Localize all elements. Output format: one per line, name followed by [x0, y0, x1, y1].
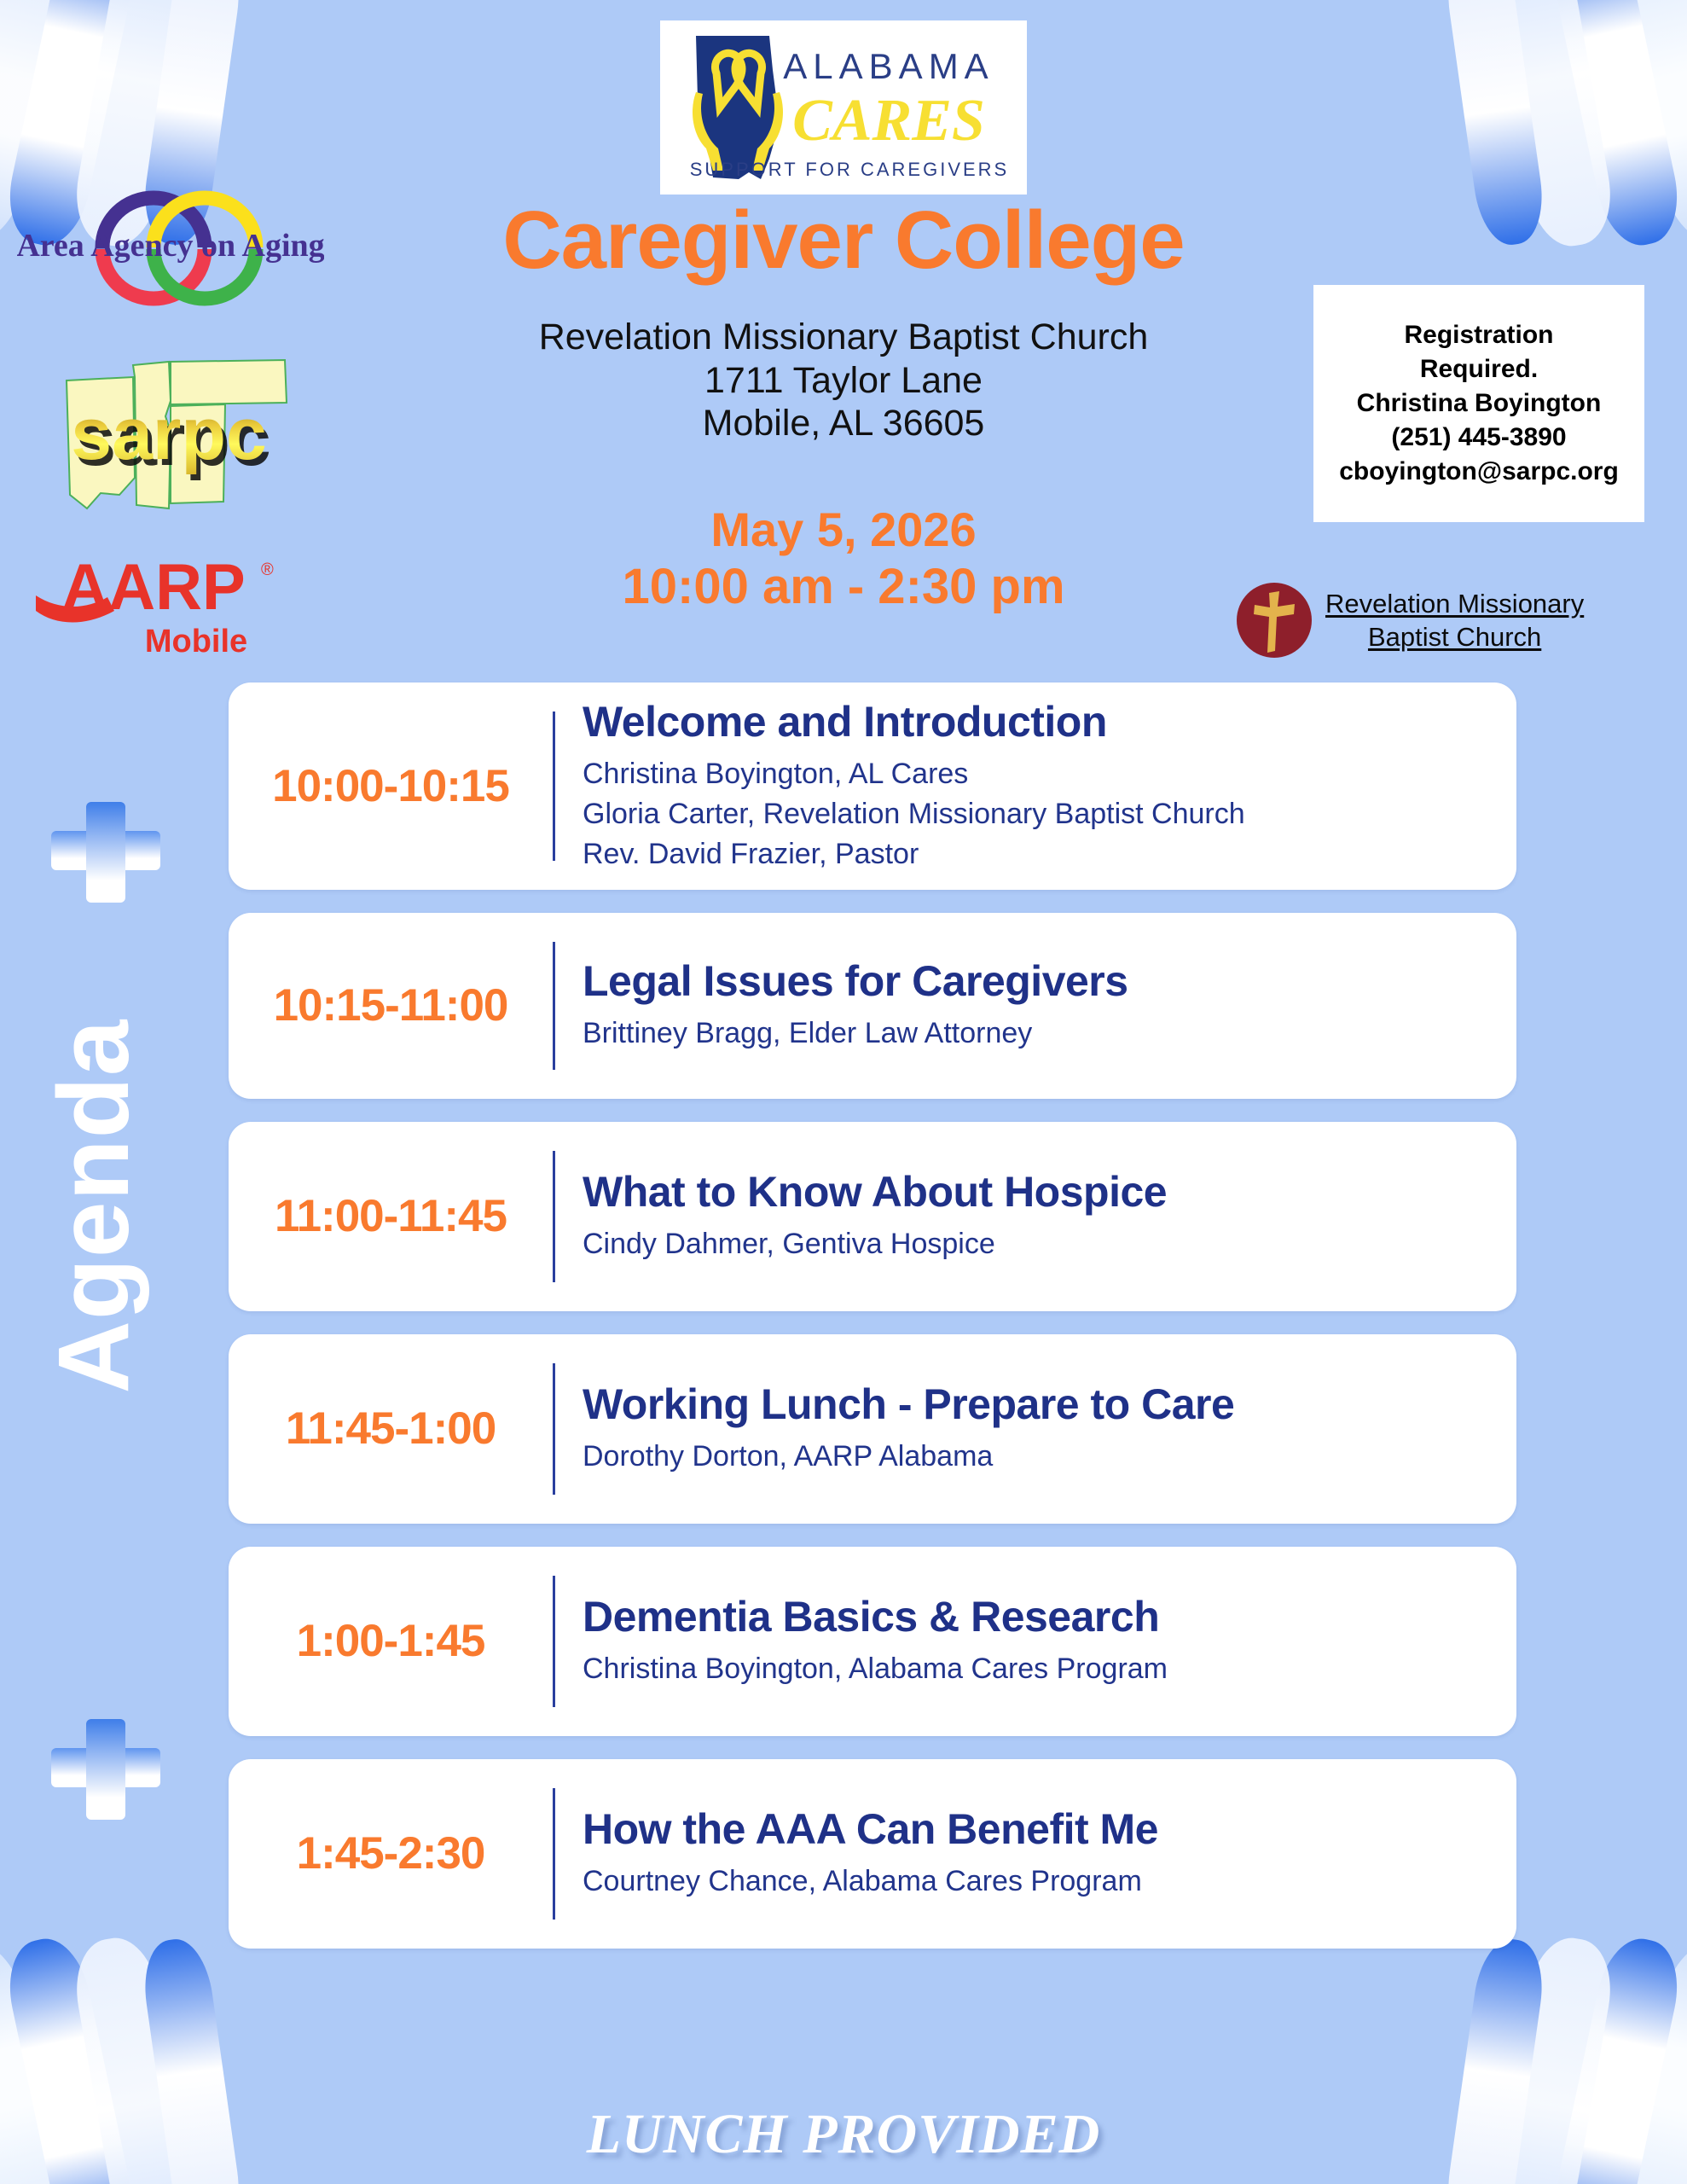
agenda-item-body: Working Lunch - Prepare to Care Dorothy …	[555, 1380, 1494, 1477]
registration-line1: Registration	[1404, 318, 1553, 352]
agenda-item: 10:00-10:15 Welcome and Introduction Chr…	[229, 682, 1516, 890]
church-name-line2: Baptist Church	[1325, 620, 1584, 653]
alabama-cares-logo: ALABAMA CARES SUPPORT FOR CAREGIVERS	[660, 20, 1027, 195]
agenda-item-title: Working Lunch - Prepare to Care	[583, 1380, 1494, 1428]
flyer-page: Area Agency on Aging sarpc	[0, 0, 1687, 2184]
agenda-item-body: What to Know About Hospice Cindy Dahmer,…	[555, 1168, 1494, 1264]
alabama-cares-word-cares: CARES	[792, 88, 985, 154]
cross-icon	[1235, 581, 1313, 659]
alabama-cares-tagline: SUPPORT FOR CAREGIVERS	[690, 159, 1009, 180]
agenda-item-time: 10:15-11:00	[229, 979, 553, 1031]
agenda-item-speaker: Gloria Carter, Revelation Missionary Bap…	[583, 794, 1494, 834]
agenda-item-speaker: Christina Boyington, AL Cares	[583, 754, 1494, 794]
aarp-mobile-text: Mobile	[145, 624, 247, 659]
plus-ornament-icon	[51, 802, 160, 903]
ribbon-decoration-top-right	[1465, 0, 1687, 222]
agenda-item-time: 11:45-1:00	[229, 1403, 553, 1455]
agenda-item: 1:00-1:45 Dementia Basics & Research Chr…	[229, 1547, 1516, 1736]
agenda-item-title: What to Know About Hospice	[583, 1168, 1494, 1216]
registration-phone[interactable]: (251) 445-3890	[1391, 421, 1566, 455]
alabama-cares-word-alabama: ALABAMA	[783, 46, 994, 86]
agenda-item-title: How the AAA Can Benefit Me	[583, 1805, 1494, 1853]
agenda-item-time: 11:00-11:45	[229, 1190, 553, 1242]
agenda-item-speaker: Cindy Dahmer, Gentiva Hospice	[583, 1224, 1494, 1264]
plus-ornament-icon	[51, 1719, 160, 1820]
agenda-item-title: Welcome and Introduction	[583, 698, 1494, 746]
agenda-item-time: 1:00-1:45	[229, 1615, 553, 1667]
agenda-list: 10:00-10:15 Welcome and Introduction Chr…	[229, 682, 1516, 1972]
page-title: Caregiver College	[0, 198, 1687, 284]
agenda-item-title: Legal Issues for Caregivers	[583, 957, 1494, 1005]
agenda-item: 11:45-1:00 Working Lunch - Prepare to Ca…	[229, 1334, 1516, 1524]
registration-box: Registration Required. Christina Boyingt…	[1313, 285, 1644, 522]
registration-contact-name: Christina Boyington	[1357, 386, 1602, 421]
agenda-item: 11:00-11:45 What to Know About Hospice C…	[229, 1122, 1516, 1311]
agenda-item: 1:45-2:30 How the AAA Can Benefit Me Cou…	[229, 1759, 1516, 1949]
agenda-item-speaker: Brittiney Bragg, Elder Law Attorney	[583, 1014, 1494, 1054]
lunch-provided-banner: LUNCH PROVIDED	[0, 2102, 1687, 2167]
agenda-vertical-label: Agenda	[43, 985, 144, 1428]
agenda-item-body: Legal Issues for Caregivers Brittiney Br…	[555, 957, 1494, 1054]
church-name: Revelation Missionary Baptist Church	[1325, 587, 1584, 653]
church-badge: Revelation Missionary Baptist Church	[1235, 573, 1644, 667]
agenda-item-body: Dementia Basics & Research Christina Boy…	[555, 1593, 1494, 1689]
agenda-item-time: 10:00-10:15	[229, 760, 553, 812]
agenda-item-body: Welcome and Introduction Christina Boyin…	[555, 698, 1494, 874]
agenda-item-body: How the AAA Can Benefit Me Courtney Chan…	[555, 1805, 1494, 1902]
agenda-item-title: Dementia Basics & Research	[583, 1593, 1494, 1641]
agenda-item: 10:15-11:00 Legal Issues for Caregivers …	[229, 913, 1516, 1099]
agenda-item-time: 1:45-2:30	[229, 1827, 553, 1879]
registration-email[interactable]: cboyington@sarpc.org	[1339, 455, 1619, 489]
agenda-item-speaker: Christina Boyington, Alabama Cares Progr…	[583, 1649, 1494, 1689]
agenda-item-speaker: Courtney Chance, Alabama Cares Program	[583, 1862, 1494, 1902]
agenda-item-speaker: Dorothy Dorton, AARP Alabama	[583, 1437, 1494, 1477]
agenda-item-speaker: Rev. David Frazier, Pastor	[583, 834, 1494, 874]
church-name-line1: Revelation Missionary	[1325, 587, 1584, 620]
registration-line2: Required.	[1420, 352, 1538, 386]
